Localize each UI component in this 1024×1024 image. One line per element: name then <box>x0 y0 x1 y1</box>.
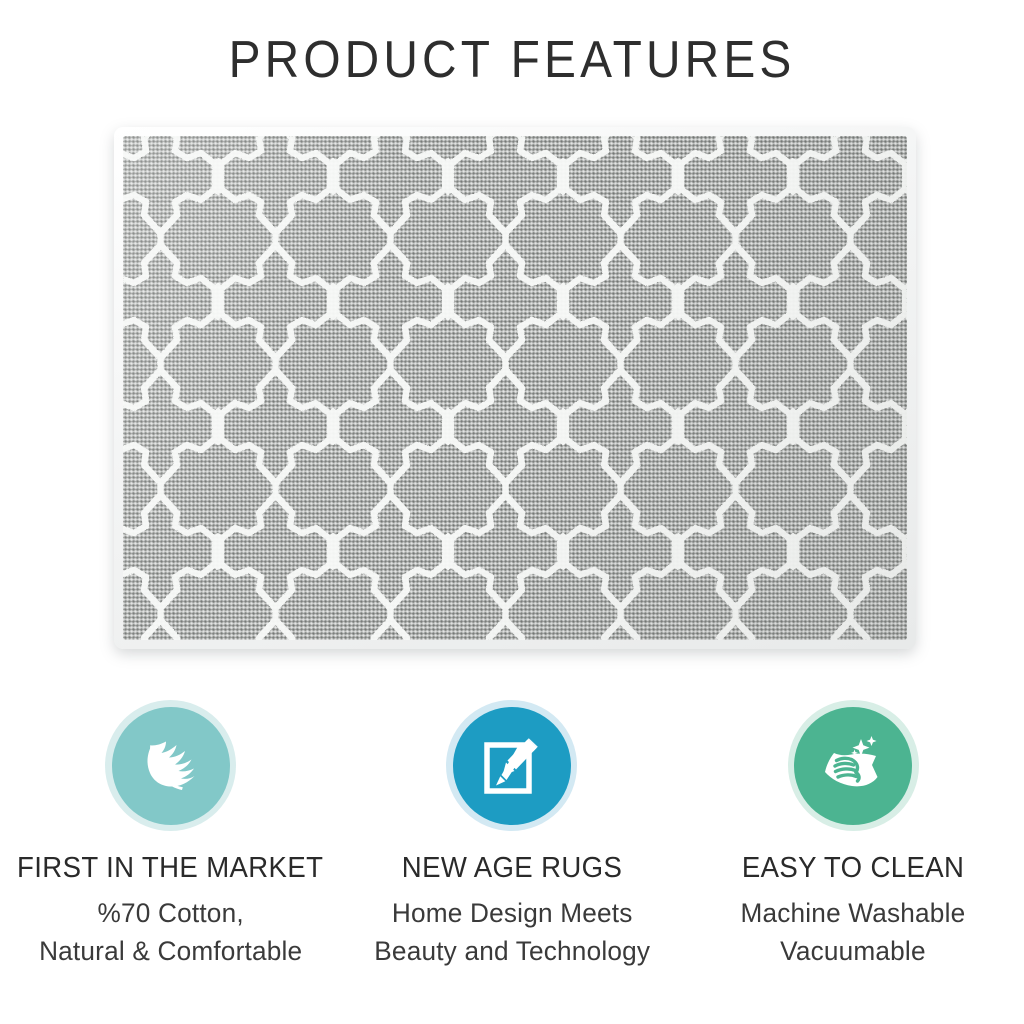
cleaning-hand-cloth-sparkle-icon <box>814 727 892 805</box>
feature-new-age-rugs: NEW AGE RUGS Home Design Meets Beauty an… <box>341 700 682 971</box>
page-title: PRODUCT FEATURES <box>41 30 983 90</box>
feather-icon <box>134 729 208 803</box>
rug-field <box>123 136 907 640</box>
feather-icon-halo <box>105 700 236 831</box>
feature-heading: EASY TO CLEAN <box>742 852 964 885</box>
rug-trellis-pattern <box>123 136 907 640</box>
feature-heading: FIRST IN THE MARKET <box>18 852 324 885</box>
feature-line: Vacuumable <box>741 932 966 970</box>
feature-easy-to-clean: EASY TO CLEAN Machine Washable Vacuumabl… <box>683 700 1024 971</box>
feature-first-in-the-market: FIRST IN THE MARKET %70 Cotton, Natural … <box>0 700 341 971</box>
feature-description: Home Design Meets Beauty and Technology <box>370 894 654 971</box>
feature-heading: NEW AGE RUGS <box>402 852 622 885</box>
feature-description: %70 Cotton, Natural & Comfortable <box>35 894 306 971</box>
cleaning-hand-cloth-sparkle-icon-circle <box>794 707 912 825</box>
feature-line: Natural & Comfortable <box>39 932 302 970</box>
design-pen-canvas-icon-halo <box>446 700 577 831</box>
rug-border-edge <box>114 127 916 649</box>
feature-line: Machine Washable <box>741 894 966 932</box>
cleaning-hand-cloth-sparkle-icon-halo <box>788 700 919 831</box>
feature-description: Machine Washable Vacuumable <box>737 894 969 971</box>
product-image-rug <box>114 127 916 649</box>
feature-line: Beauty and Technology <box>374 932 650 970</box>
design-pen-canvas-icon <box>475 729 549 803</box>
design-pen-canvas-icon-circle <box>453 707 571 825</box>
feather-icon-circle <box>112 707 230 825</box>
feature-line: Home Design Meets <box>374 894 650 932</box>
feature-line: %70 Cotton, <box>39 894 302 932</box>
features-row: FIRST IN THE MARKET %70 Cotton, Natural … <box>0 700 1024 971</box>
